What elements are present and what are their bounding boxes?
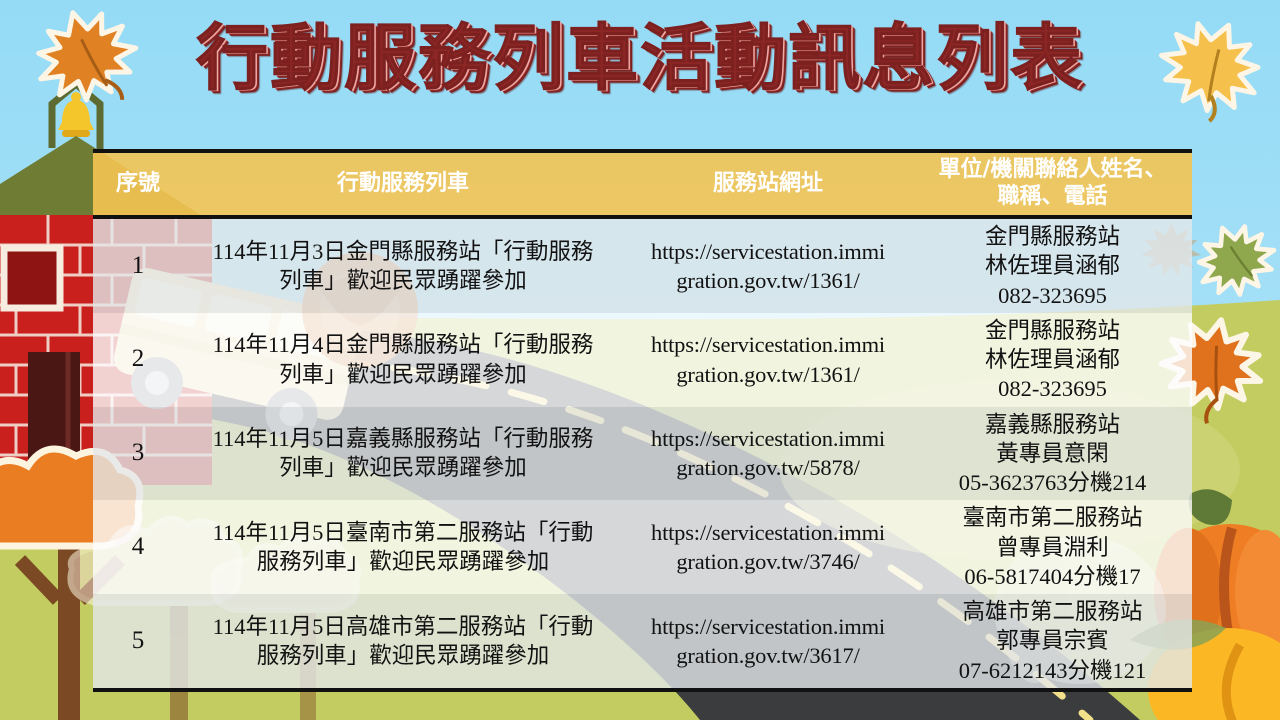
cell-contact: 高雄市第二服務站 郭專員宗賓 07-6212143分機121 <box>913 597 1192 685</box>
cell-no: 4 <box>93 531 183 564</box>
column-header-url: 服務站網址 <box>623 171 913 198</box>
activity-table: 序號 行動服務列車 服務站網址 單位/機關聯絡人姓名、 職稱、電話 1 114年… <box>93 149 1192 692</box>
table-row[interactable]: 2 114年11月4日金門縣服務站「行動服務 列車」歡迎民眾踴躍參加 https… <box>93 313 1192 407</box>
cell-contact: 臺南市第二服務站 曾專員淵利 06-5817404分機17 <box>913 503 1192 591</box>
column-header-contact: 單位/機關聯絡人姓名、 職稱、電話 <box>913 157 1192 211</box>
cell-title: 114年11月5日嘉義縣服務站「行動服務 列車」歡迎民眾踴躍參加 <box>183 424 623 483</box>
cell-title: 114年11月5日高雄市第二服務站「行動 服務列車」歡迎民眾踴躍參加 <box>183 612 623 671</box>
cell-title: 114年11月5日臺南市第二服務站「行動 服務列車」歡迎民眾踴躍參加 <box>183 518 623 577</box>
cell-url[interactable]: https://servicestation.immi gration.gov.… <box>623 424 913 483</box>
table-row[interactable]: 4 114年11月5日臺南市第二服務站「行動 服務列車」歡迎民眾踴躍參加 htt… <box>93 500 1192 594</box>
table-row[interactable]: 1 114年11月3日金門縣服務站「行動服務 列車」歡迎民眾踴躍參加 https… <box>93 219 1192 313</box>
cell-url[interactable]: https://servicestation.immi gration.gov.… <box>623 612 913 671</box>
cell-contact: 金門縣服務站 林佐理員涵郁 082-323695 <box>913 222 1192 310</box>
table-body: 1 114年11月3日金門縣服務站「行動服務 列車」歡迎民眾踴躍參加 https… <box>93 219 1192 688</box>
cell-no: 3 <box>93 437 183 470</box>
cell-title: 114年11月3日金門縣服務站「行動服務 列車」歡迎民眾踴躍參加 <box>183 237 623 296</box>
cell-title: 114年11月4日金門縣服務站「行動服務 列車」歡迎民眾踴躍參加 <box>183 330 623 389</box>
column-header-no: 序號 <box>93 171 183 198</box>
cell-url[interactable]: https://servicestation.immi gration.gov.… <box>623 330 913 389</box>
table-header-row: 序號 行動服務列車 服務站網址 單位/機關聯絡人姓名、 職稱、電話 <box>93 153 1192 219</box>
table-row[interactable]: 3 114年11月5日嘉義縣服務站「行動服務 列車」歡迎民眾踴躍參加 https… <box>93 407 1192 501</box>
cell-url[interactable]: https://servicestation.immi gration.gov.… <box>623 518 913 577</box>
schoolhouse-window <box>4 248 60 308</box>
table-row[interactable]: 5 114年11月5日高雄市第二服務站「行動 服務列車」歡迎民眾踴躍參加 htt… <box>93 594 1192 688</box>
cell-no: 1 <box>93 250 183 283</box>
cell-no: 5 <box>93 625 183 658</box>
column-header-title: 行動服務列車 <box>183 171 623 198</box>
cell-no: 2 <box>93 343 183 376</box>
cell-contact: 嘉義縣服務站 黃專員意閑 05-3623763分機214 <box>913 410 1192 498</box>
cell-url[interactable]: https://servicestation.immi gration.gov.… <box>623 237 913 296</box>
cell-contact: 金門縣服務站 林佐理員涵郁 082-323695 <box>913 316 1192 404</box>
